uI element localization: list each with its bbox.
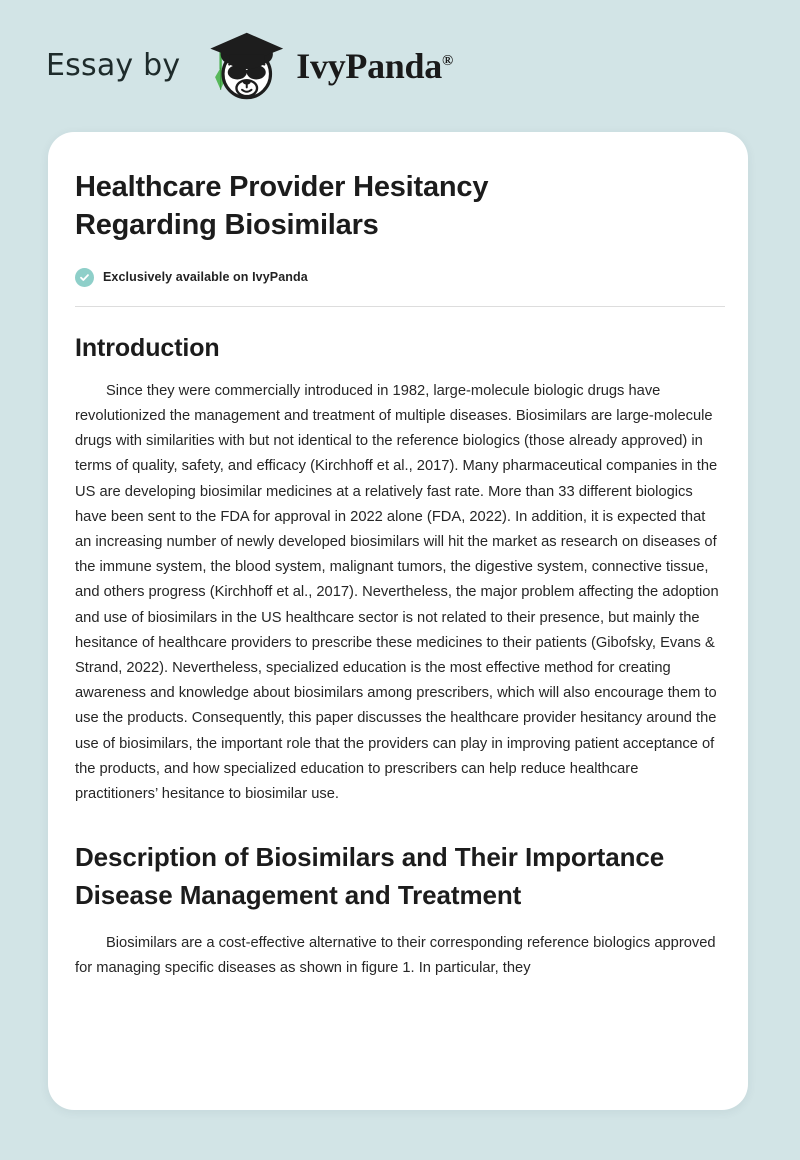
exclusivity-badge: Exclusively available on IvyPanda xyxy=(75,268,721,287)
brand-name-text: IvyPanda xyxy=(296,46,442,86)
title-divider xyxy=(75,306,725,307)
paragraph-description: Biosimilars are a cost-effective alterna… xyxy=(75,931,721,981)
paragraph-introduction: Since they were commercially introduced … xyxy=(75,379,721,807)
registered-trademark-symbol: ® xyxy=(442,53,453,69)
panda-graduate-icon xyxy=(194,28,290,104)
essay-card: Healthcare Provider Hesitancy Regarding … xyxy=(48,132,748,1110)
essay-by-label: Essay by xyxy=(46,51,180,81)
exclusivity-badge-label: Exclusively available on IvyPanda xyxy=(103,270,308,284)
section-heading-introduction: Introduction xyxy=(75,332,721,365)
ivypanda-wordmark: IvyPanda® xyxy=(296,48,453,84)
page-title: Healthcare Provider Hesitancy Regarding … xyxy=(75,168,635,245)
check-circle-icon xyxy=(75,268,94,287)
site-header: Essay by xyxy=(0,0,800,132)
ivypanda-brand-lockup[interactable]: IvyPanda® xyxy=(194,28,453,104)
section-heading-description: Description of Biosimilars and Their Imp… xyxy=(75,839,675,914)
